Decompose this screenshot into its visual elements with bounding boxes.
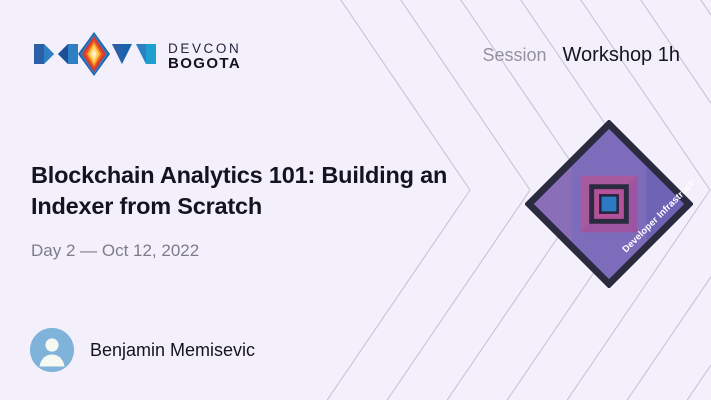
session-type-value: Workshop 1h xyxy=(563,44,680,67)
session-meta: Session Workshop 1h xyxy=(482,44,680,67)
track-badge: Developer Infrastructure xyxy=(525,120,693,288)
devcon-ethereum-logo-icon xyxy=(30,30,158,83)
person-avatar-icon xyxy=(30,328,74,372)
brand-name-bogota: BOGOTA xyxy=(168,56,241,73)
page-title: Blockchain Analytics 101: Building an In… xyxy=(31,160,481,223)
brand-wordmark: DEVCON BOGOTA xyxy=(168,41,241,73)
speaker-name: Benjamin Memisevic xyxy=(90,340,255,361)
session-type-label: Session xyxy=(482,45,546,66)
speaker-row: Benjamin Memisevic xyxy=(30,328,255,372)
session-details: Blockchain Analytics 101: Building an In… xyxy=(31,160,481,261)
brand-header: DEVCON BOGOTA xyxy=(30,30,241,83)
session-date: Day 2 — Oct 12, 2022 xyxy=(31,241,481,261)
session-card: DEVCON BOGOTA Session Workshop 1h Blockc… xyxy=(0,0,711,400)
brand-name-devcon: DEVCON xyxy=(168,41,241,56)
